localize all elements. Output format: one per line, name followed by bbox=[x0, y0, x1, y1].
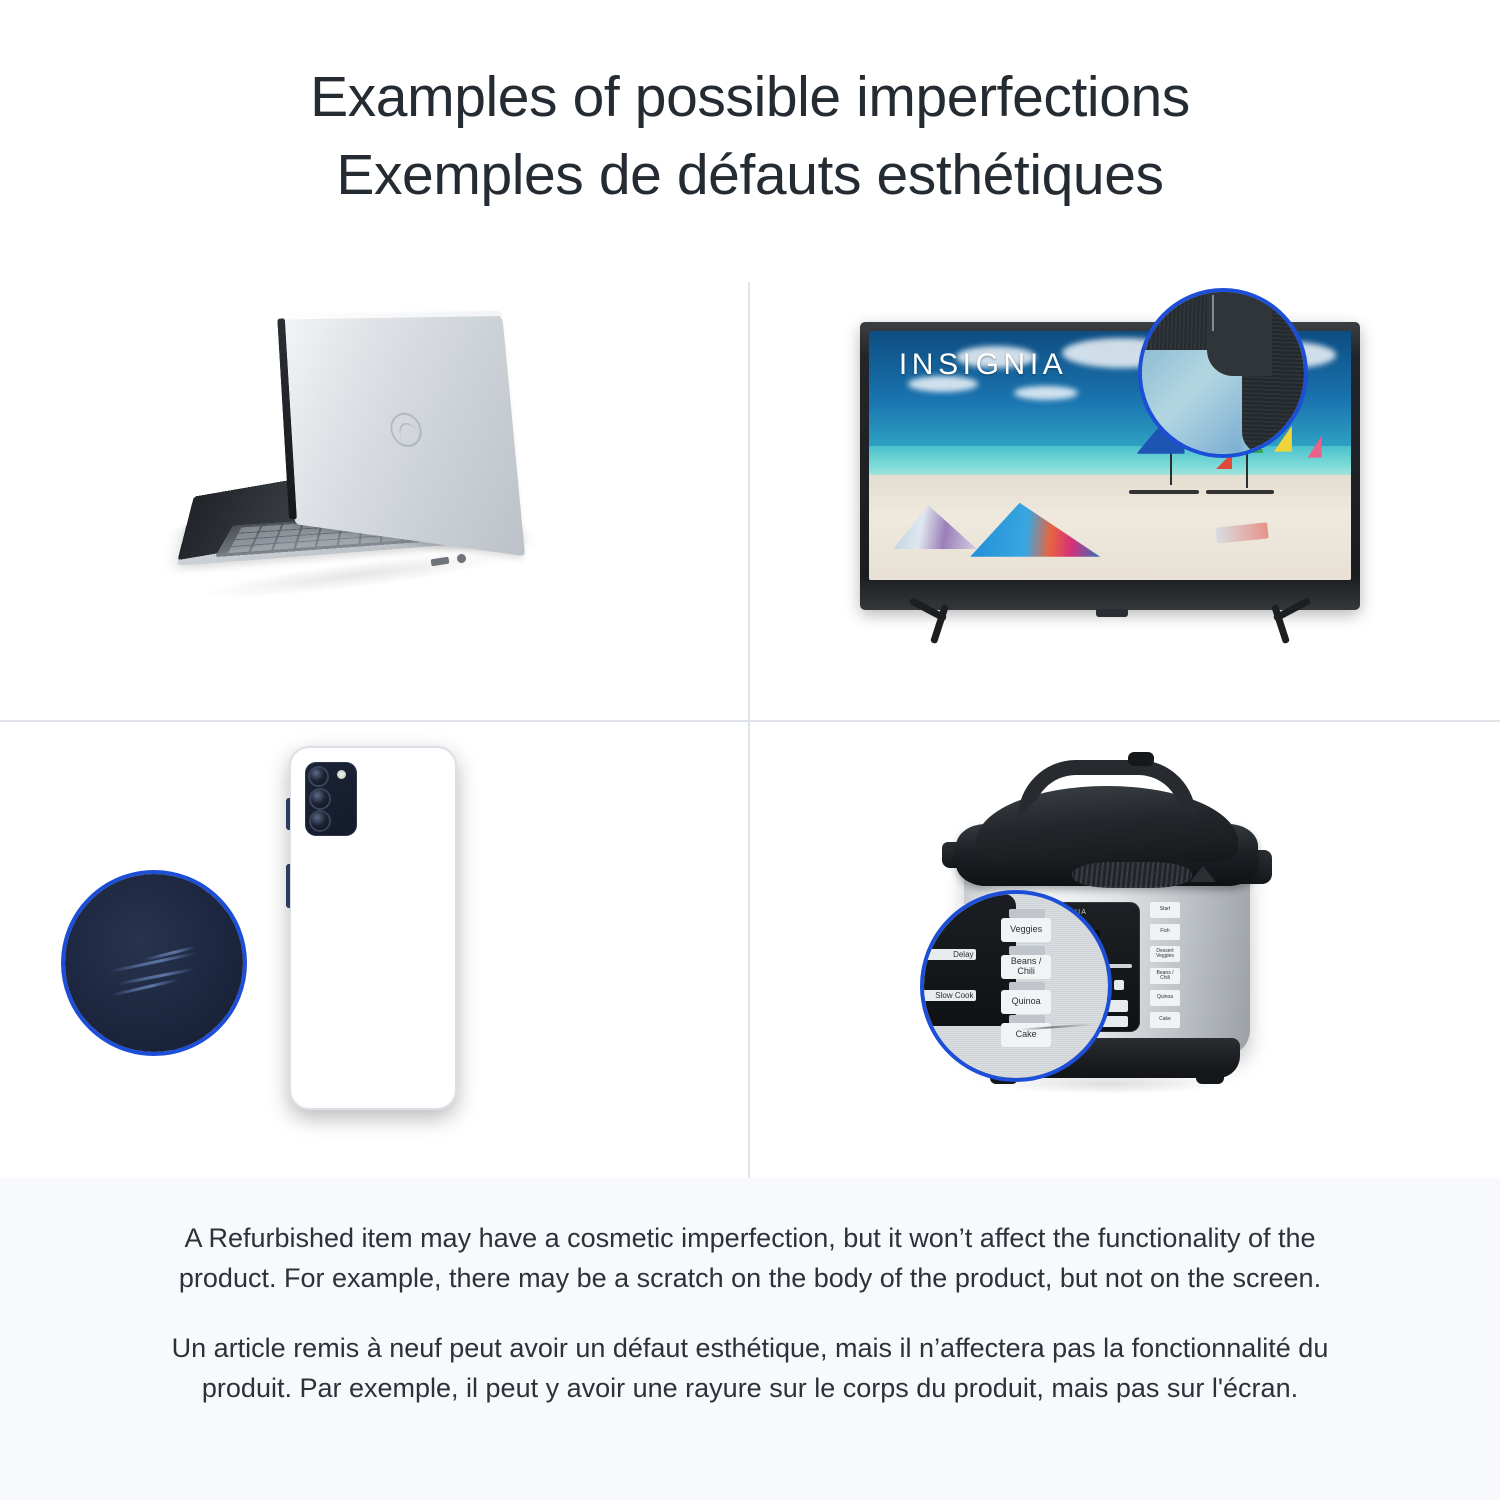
cooker-foot bbox=[1196, 1072, 1224, 1084]
circle-magnifier-smartphone bbox=[61, 870, 247, 1056]
footer-paragraph-french: Un article remis à neuf peut avoir un dé… bbox=[150, 1328, 1350, 1408]
cooker-lid-handle bbox=[1018, 760, 1196, 818]
camera-lens bbox=[311, 812, 329, 830]
camera-lens bbox=[311, 790, 329, 808]
grid-cell-smartphone bbox=[0, 722, 748, 1178]
cooker-preset-button[interactable]: Quinoa bbox=[1150, 990, 1180, 1006]
magnified-button-tick bbox=[1009, 946, 1046, 955]
grid-cell-television: INSIGNIA bbox=[750, 282, 1500, 720]
magnified-preset-button[interactable]: Quinoa bbox=[1001, 990, 1051, 1014]
tv-foot-right bbox=[1242, 604, 1318, 646]
magnified-side-label: Slow Cook bbox=[920, 990, 975, 1001]
cooker-lid-vent-grille bbox=[1072, 862, 1192, 888]
imperfection-mark-tv bbox=[1212, 295, 1214, 331]
cloud bbox=[1014, 386, 1078, 400]
page-title-english: Examples of possible imperfections bbox=[310, 58, 1190, 136]
camera-module bbox=[305, 762, 357, 836]
cooker-preset-button[interactable]: Beans / Chili bbox=[1150, 968, 1180, 984]
grid-cell-laptop bbox=[0, 282, 748, 720]
phone-volume-button bbox=[286, 864, 290, 908]
cooker-pressure-valve bbox=[1128, 752, 1154, 766]
tv-brand-logo: INSIGNIA bbox=[899, 348, 1068, 382]
infographic-page: Examples of possible imperfections Exemp… bbox=[0, 0, 1500, 1500]
circle-magnifier-television bbox=[1138, 288, 1308, 458]
laptop-image bbox=[175, 300, 575, 660]
footer-paragraph-english: A Refurbished item may have a cosmetic i… bbox=[150, 1218, 1350, 1298]
magnified-button-tick bbox=[1009, 909, 1046, 918]
cooker-preset-button[interactable]: Fish bbox=[1150, 924, 1180, 940]
cooker-preset-button[interactable]: Dessert Veggies bbox=[1150, 946, 1180, 962]
boat-hull bbox=[1206, 490, 1274, 494]
cooker-lid-release-icon bbox=[1190, 866, 1216, 882]
cooker-preset-button[interactable]: Start bbox=[1150, 902, 1180, 918]
magnified-preset-button[interactable]: Beans / Chili bbox=[1001, 955, 1051, 979]
cooker-plus-button[interactable] bbox=[1114, 980, 1124, 990]
product-example-grid: INSIGNIA bbox=[0, 282, 1500, 1178]
tv-bezel-corner bbox=[1207, 292, 1272, 376]
tv-foot-left bbox=[902, 604, 978, 646]
magnified-side-label: Delay bbox=[920, 949, 975, 960]
phone-back-panel bbox=[289, 746, 457, 1110]
page-header: Examples of possible imperfections Exemp… bbox=[0, 0, 1500, 282]
cooker-preset-button[interactable]: Cake bbox=[1150, 1012, 1180, 1028]
page-title-french: Exemples de défauts esthétiques bbox=[336, 136, 1163, 214]
camera-flash-icon bbox=[337, 770, 346, 779]
phone-side-button bbox=[286, 798, 290, 830]
smartphone-image bbox=[289, 746, 457, 1110]
laptop-lid bbox=[282, 311, 525, 556]
circle-magnifier-pressure-cooker: Delay Slow Cook Veggies Beans / Chili Qu… bbox=[920, 890, 1112, 1082]
boat-hull bbox=[1129, 490, 1199, 494]
dell-logo-icon bbox=[387, 410, 426, 449]
tv-bottom-logo-nub bbox=[1096, 609, 1128, 617]
magnified-preset-button[interactable]: Veggies bbox=[1001, 918, 1051, 942]
page-footer: A Refurbished item may have a cosmetic i… bbox=[0, 1178, 1500, 1500]
grid-cell-pressure-cooker: INSIGNIA 8:00 bbox=[750, 722, 1500, 1178]
camera-lens bbox=[310, 768, 327, 785]
